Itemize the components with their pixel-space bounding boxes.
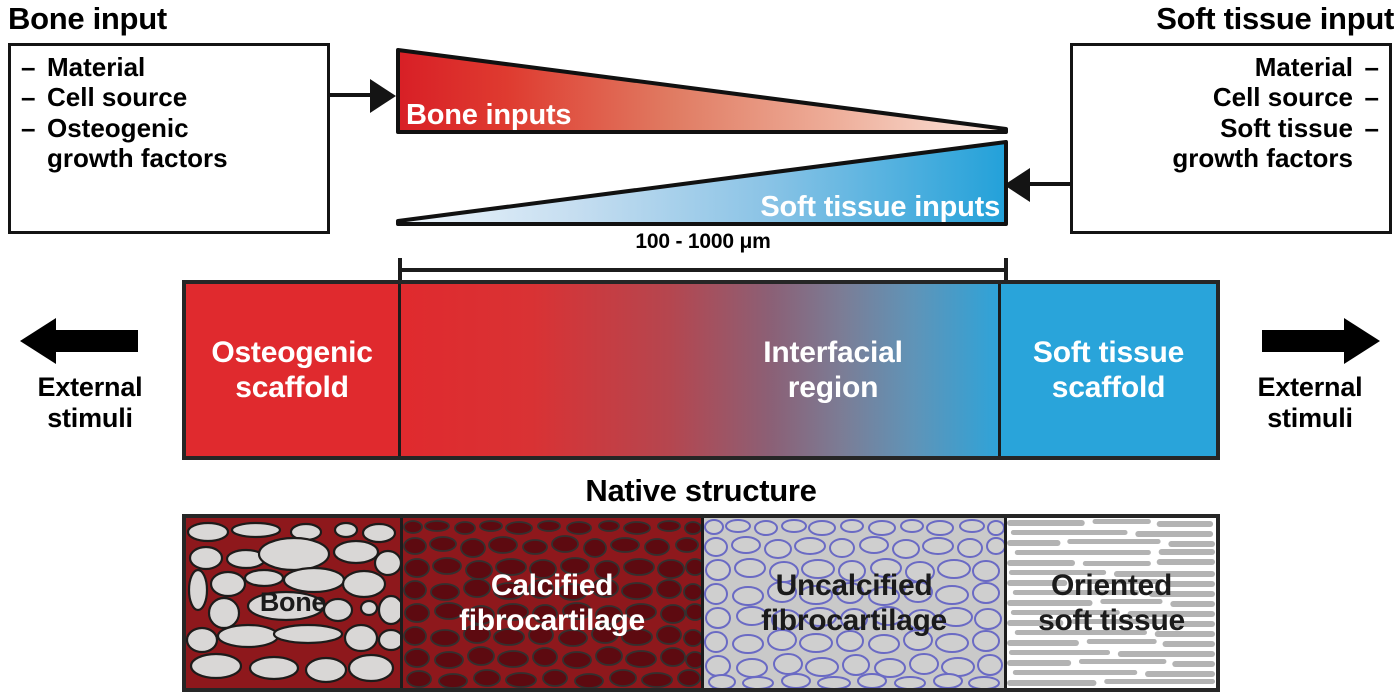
native-structure-panel: Bone — [182, 514, 1220, 692]
external-left-line1: External — [4, 372, 176, 403]
segment-interfacial-region-label: Interfacial region — [668, 335, 998, 405]
segment-osteogenic-scaffold-label: Osteogenic scaffold — [186, 335, 398, 405]
bullet-dash-icon: – — [21, 113, 47, 143]
external-right-line2: stimuli — [1224, 403, 1396, 434]
scale-bar-tick-left — [398, 258, 402, 282]
soft-input-connector-line — [1028, 182, 1072, 186]
segment-interfacial-region: Interfacial region — [401, 284, 1001, 456]
segment-interfacial-line1: Interfacial — [668, 335, 998, 370]
soft-input-item-3-label: growth factors — [1172, 143, 1353, 173]
histology-bone-label: Bone — [186, 587, 400, 619]
soft-tissue-inputs-wedge: Soft tissue inputs — [396, 140, 1008, 226]
bone-input-title: Bone input — [8, 3, 167, 34]
histology-uncalcified-label: Uncalcified fibrocartilage — [704, 568, 1004, 638]
bone-input-item-0: –Material — [21, 52, 327, 82]
segment-soft-tissue-scaffold-label: Soft tissue scaffold — [1001, 335, 1216, 405]
histology-uncalcified-line2: fibrocartilage — [704, 603, 1004, 638]
external-stimuli-right: External stimuli — [1224, 318, 1396, 435]
histology-uncalcified-fibrocartilage: Uncalcified fibrocartilage — [704, 518, 1007, 688]
segment-osteogenic-scaffold: Osteogenic scaffold — [186, 284, 401, 456]
bone-input-item-2: –Osteogenic — [21, 113, 327, 143]
histology-calcified-label: Calcified fibrocartilage — [403, 568, 701, 638]
bone-inputs-wedge: Bone inputs — [396, 48, 1008, 134]
bone-input-item-3: growth factors — [21, 143, 327, 173]
histology-bone-line1: Bone — [186, 587, 400, 619]
arrow-right-shaft — [1262, 330, 1346, 352]
bone-input-box: –Material –Cell source –Osteogenic growt… — [8, 43, 330, 234]
external-stimuli-left-arrow-icon — [4, 318, 176, 360]
segment-soft-tissue-line2: scaffold — [1001, 370, 1216, 405]
bullet-dash-icon: – — [21, 82, 47, 112]
histology-uncalcified-line1: Uncalcified — [704, 568, 1004, 603]
soft-tissue-inputs-wedge-label: Soft tissue inputs — [760, 191, 1000, 224]
histology-oriented-line2: soft tissue — [1007, 603, 1216, 638]
histology-oriented-soft-tissue: Oriented soft tissue — [1007, 518, 1216, 688]
soft-input-item-0-label: Material — [1255, 52, 1353, 82]
segment-soft-tissue-scaffold: Soft tissue scaffold — [1001, 284, 1216, 456]
external-stimuli-right-label: External stimuli — [1224, 372, 1396, 435]
bullet-dash-icon: – — [1353, 82, 1379, 112]
histology-oriented-line1: Oriented — [1007, 568, 1216, 603]
scaffold-gradient-bar: Osteogenic scaffold Interfacial region S… — [182, 280, 1220, 460]
bone-input-item-1: –Cell source — [21, 82, 327, 112]
segment-interfacial-line2: region — [668, 370, 998, 405]
external-stimuli-right-arrow-icon — [1224, 318, 1396, 360]
soft-input-item-3: growth factors — [1073, 143, 1379, 173]
histology-calcified-line1: Calcified — [403, 568, 701, 603]
arrow-left-head — [20, 318, 56, 364]
histology-oriented-label: Oriented soft tissue — [1007, 568, 1216, 638]
arrow-left-shaft — [54, 330, 138, 352]
scale-bar-label: 100 - 1000 μm — [398, 230, 1008, 254]
segment-soft-tissue-line1: Soft tissue — [1001, 335, 1216, 370]
scale-bar-tick-right — [1004, 258, 1008, 282]
external-stimuli-left-label: External stimuli — [4, 372, 176, 435]
external-right-line1: External — [1224, 372, 1396, 403]
bullet-dash-icon: – — [1353, 113, 1379, 143]
bone-input-item-0-label: Material — [47, 52, 145, 82]
segment-osteogenic-line2: scaffold — [186, 370, 398, 405]
soft-input-item-2-label: Soft tissue — [1220, 113, 1353, 143]
histology-bone: Bone — [186, 518, 403, 688]
bullet-dash-icon: – — [21, 52, 47, 82]
soft-tissue-input-title: Soft tissue input — [1156, 3, 1394, 34]
segment-osteogenic-line1: Osteogenic — [186, 335, 398, 370]
soft-tissue-input-box: Material– Cell source– Soft tissue– grow… — [1070, 43, 1392, 234]
bone-input-item-3-label: growth factors — [47, 143, 228, 173]
soft-input-item-1: Cell source– — [1073, 82, 1379, 112]
scale-bar-line — [398, 268, 1008, 272]
scale-bar: 100 - 1000 μm — [398, 230, 1008, 278]
arrow-right-head — [1344, 318, 1380, 364]
soft-input-item-2: Soft tissue– — [1073, 113, 1379, 143]
soft-input-item-1-label: Cell source — [1213, 82, 1353, 112]
bone-input-arrow-icon — [370, 79, 396, 113]
external-left-line2: stimuli — [4, 403, 176, 434]
native-structure-title: Native structure — [182, 473, 1220, 509]
bone-input-connector-line — [330, 93, 372, 97]
bone-input-item-2-label: Osteogenic — [47, 113, 189, 143]
soft-input-item-0: Material– — [1073, 52, 1379, 82]
bullet-dash-icon: – — [1353, 52, 1379, 82]
external-stimuli-left: External stimuli — [4, 318, 176, 435]
bone-inputs-wedge-label: Bone inputs — [406, 99, 571, 132]
bone-input-item-1-label: Cell source — [47, 82, 187, 112]
histology-calcified-fibrocartilage: Calcified fibrocartilage — [403, 518, 704, 688]
histology-calcified-line2: fibrocartilage — [403, 603, 701, 638]
